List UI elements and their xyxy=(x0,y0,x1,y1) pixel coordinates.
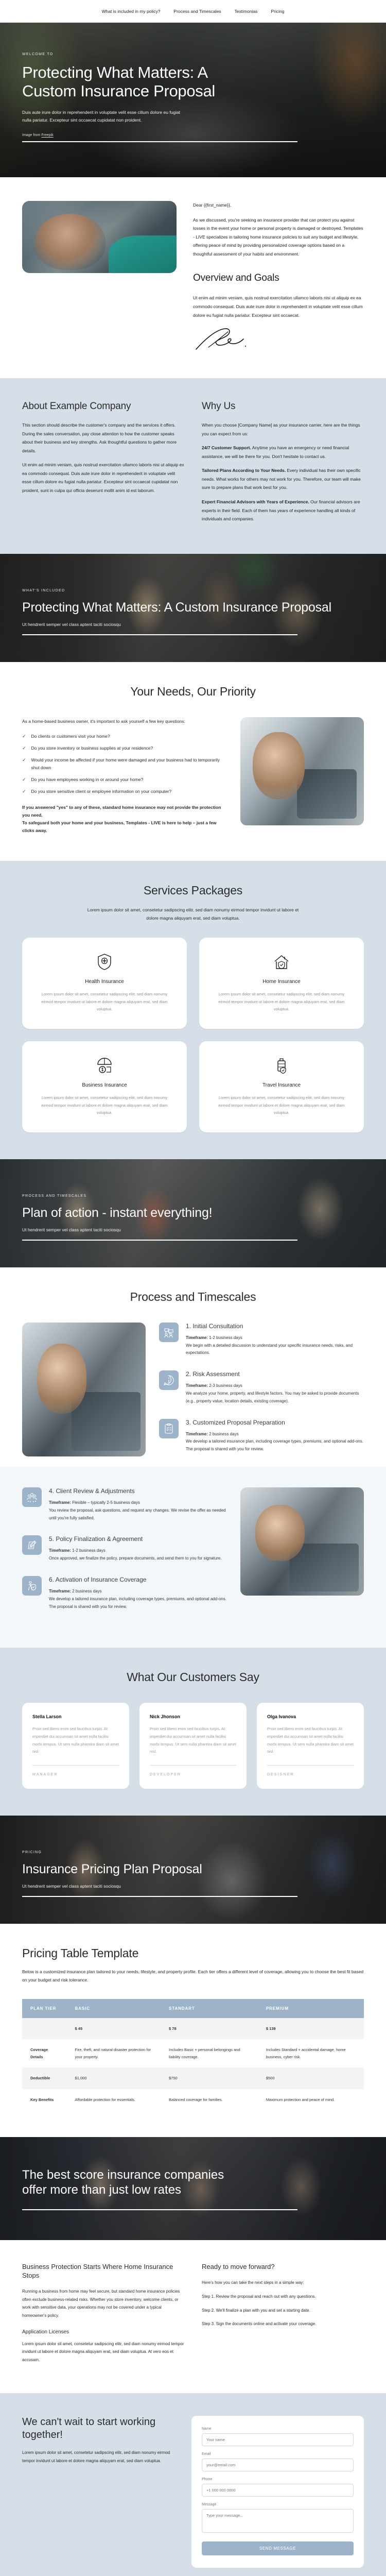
advisor-photo xyxy=(22,201,177,273)
email-input[interactable] xyxy=(202,2459,354,2471)
process-banner-title: Plan of action - instant everything! xyxy=(22,1205,364,1221)
contact-lead: Lorem ipsum dolor sit amet, consetetur s… xyxy=(22,2449,174,2465)
about-why-section: About Example Company This section shoul… xyxy=(0,378,386,554)
chat-people-icon xyxy=(159,1323,179,1342)
process-title: Process and Timescales xyxy=(0,1290,386,1304)
timeframe-label: Timeframe: xyxy=(49,1548,71,1553)
col-standard: STANDART xyxy=(161,1999,258,2018)
needs-bold-1: If you answered "yes" to any of these, s… xyxy=(22,804,225,820)
overview-title: Overview and Goals xyxy=(193,268,364,287)
proposal-page: What is included in my policy? Process a… xyxy=(0,0,386,2576)
table-row: Key Benefits Affordable protection for e… xyxy=(22,2089,364,2111)
included-title: Protecting What Matters: A Custom Insura… xyxy=(22,600,364,615)
table-row: Deductible $1,000 $750 $500 xyxy=(22,2067,364,2089)
field-email: Email xyxy=(202,2452,354,2471)
hero-section: WELCOME TO Protecting What Matters: A Cu… xyxy=(0,23,386,177)
list-item: ✓Do clients or customers visit your home… xyxy=(22,733,225,740)
price-standard: $ 78 xyxy=(161,2018,258,2040)
pricing-eyebrow: PRICING xyxy=(22,1851,364,1854)
included-banner: WHAT'S INCLUDED Protecting What Matters:… xyxy=(0,554,386,662)
service-body-travel: Lorem ipsum dolor sit amet, consetetur s… xyxy=(213,1094,350,1117)
process-step-6-timeframe: 2 business days xyxy=(71,1589,102,1594)
timeframe-label: Timeframe: xyxy=(186,1335,208,1340)
process-step-5-title: 5. Policy Finalization & Agreement xyxy=(49,1535,222,1543)
needs-question-5: Do you store sensitive client or employe… xyxy=(31,788,172,795)
hero-subtitle: Duis aute irure dolor in reprehenderit i… xyxy=(22,109,182,124)
check-icon: ✓ xyxy=(22,776,26,784)
coverage-standard: Includes Basic + personal belongings and… xyxy=(161,2039,258,2067)
needs-bold-2: To safeguard both your home and your bus… xyxy=(22,819,225,835)
letter-greeting: Dear {{first_name}}, xyxy=(193,201,364,210)
pricing-lead: Below is a customized insurance plan tai… xyxy=(22,1968,364,1985)
testimonial-quote-1: Proin sed libero enim sed faucibus turpi… xyxy=(32,1725,119,1756)
process-step-2-title: 2. Risk Assessment xyxy=(186,1370,364,1378)
process-photo-right xyxy=(240,1487,364,1596)
col-premium: PREMIUM xyxy=(258,1999,364,2018)
service-card-health[interactable]: Health Insurance Lorem ipsum dolor sit a… xyxy=(22,938,187,1029)
process-step-2: 2. Risk Assessment Timeframe: 2-3 busine… xyxy=(159,1370,364,1405)
business-ready-section: Business Protection Starts Where Home In… xyxy=(0,2240,386,2393)
luggage-shield-icon xyxy=(213,1055,350,1076)
nav-item-pricing[interactable]: Pricing xyxy=(271,9,284,14)
label-email: Email xyxy=(202,2452,354,2456)
ready-title: Ready to move forward? xyxy=(202,2263,364,2272)
why-title: Why Us xyxy=(202,401,364,412)
letter-section: Dear {{first_name}}, As we discussed, yo… xyxy=(0,177,386,378)
col-basic: BASIC xyxy=(67,1999,161,2018)
phone-input[interactable] xyxy=(202,2484,354,2497)
top-navbar: What is included in my policy? Process a… xyxy=(0,0,386,23)
services-lead: Lorem ipsum dolor sit amet, consetetur s… xyxy=(85,906,301,922)
process-step-5: 5. Policy Finalization & Agreement Timef… xyxy=(22,1535,227,1563)
pricing-section: Pricing Table Template Below is a custom… xyxy=(0,1924,386,2138)
pricing-banner-title: Insurance Pricing Plan Proposal xyxy=(22,1861,364,1877)
table-row: Coverage Details Fire, theft, and natura… xyxy=(22,2039,364,2067)
needs-question-list: ✓Do clients or customers visit your home… xyxy=(22,733,225,795)
ready-step-2: Step 2. We'll finalize a plan with you a… xyxy=(202,2307,364,2315)
divider xyxy=(32,1765,119,1766)
coverage-premium: Includes Standard + accidental damage, h… xyxy=(258,2039,364,2067)
why-item-2-bold: Tailored Plans According to Your Needs. xyxy=(202,468,286,473)
process-step-4-title: 4. Client Review & Adjustments xyxy=(49,1487,227,1495)
timeframe-label: Timeframe: xyxy=(186,1383,208,1388)
row-label-price xyxy=(22,2018,67,2040)
needs-section: Your Needs, Our Priority As a home-based… xyxy=(0,662,386,861)
service-title-travel: Travel Insurance xyxy=(213,1082,350,1088)
field-phone: Phone xyxy=(202,2478,354,2497)
business-column: Business Protection Starts Where Home In… xyxy=(22,2263,184,2369)
check-icon: ✓ xyxy=(22,733,26,740)
nav-item-testimonials[interactable]: Testimonias xyxy=(235,9,258,14)
comparison-banner: The best score insurance companies offer… xyxy=(0,2137,386,2240)
table-row: $ 45 $ 78 $ 139 xyxy=(22,2018,364,2040)
services-title: Services Packages xyxy=(22,884,364,897)
list-item: ✓Would your income be affected if your h… xyxy=(22,756,225,772)
process-photo-left xyxy=(22,1323,146,1456)
signed-document-icon xyxy=(22,1535,42,1555)
needs-question-2: Do you store inventory or business suppl… xyxy=(31,744,153,752)
timeframe-label: Timeframe: xyxy=(49,1589,71,1594)
service-card-travel[interactable]: Travel Insurance Lorem ipsum dolor sit a… xyxy=(199,1041,364,1132)
benefits-premium: Maximum protection and peace of mind. xyxy=(258,2089,364,2111)
process-step-1-title: 1. Initial Consultation xyxy=(186,1323,364,1330)
image-credit-link[interactable]: Freepik xyxy=(41,133,53,137)
list-item: ✓Do you store inventory or business supp… xyxy=(22,744,225,752)
image-credit: Image from Freepik xyxy=(22,133,364,137)
row-label-benefits: Key Benefits xyxy=(22,2089,67,2111)
testimonials-title: What Our Customers Say xyxy=(22,1670,364,1684)
contact-form: Name Email Phone Message SEND MESSAGE xyxy=(191,2416,364,2568)
comparison-title: The best score insurance companies offer… xyxy=(22,2168,238,2198)
business-paragraph: Running a business from home may feel se… xyxy=(22,2287,184,2319)
service-body-health: Lorem ipsum dolor sit amet, consetetur s… xyxy=(36,991,173,1013)
about-title: About Example Company xyxy=(22,401,184,412)
price-premium: $ 139 xyxy=(258,2018,364,2040)
contact-section: We can't wait to start working together!… xyxy=(0,2393,386,2576)
included-subtitle: Ut hendrerit semper vel class aptent tac… xyxy=(22,622,364,627)
why-item-2: Tailored Plans According to Your Needs. … xyxy=(202,466,364,492)
about-column: About Example Company This section shoul… xyxy=(22,401,184,529)
row-label-coverage: Coverage Details xyxy=(22,2039,67,2067)
divider xyxy=(267,1765,354,1766)
process-step-3-title: 3. Customized Proposal Preparation xyxy=(186,1419,364,1426)
process-step-3-timeframe: 2 business days xyxy=(208,1432,239,1436)
letter-paragraph: As we discussed, you're seeking an insur… xyxy=(193,216,364,259)
process-step-6-title: 6. Activation of Insurance Coverage xyxy=(49,1576,227,1583)
service-title-home: Home Insurance xyxy=(213,979,350,985)
message-input[interactable] xyxy=(202,2509,354,2533)
why-item-3-bold: Expert Financial Advisors with Years of … xyxy=(202,499,309,504)
service-card-business[interactable]: Business Insurance Lorem ipsum dolor sit… xyxy=(22,1041,187,1132)
hero-eyebrow: WELCOME TO xyxy=(22,53,364,56)
needs-question-4: Do you have employees working in or arou… xyxy=(31,776,144,784)
testimonial-card: Stella Larson Proin sed libero enim sed … xyxy=(22,1703,129,1789)
check-icon: ✓ xyxy=(22,756,26,772)
field-name: Name xyxy=(202,2427,354,2446)
process-step-3-text: We develop a tailored insurance plan, in… xyxy=(186,1439,363,1451)
process-steps-group-a: 1. Initial Consultation Timeframe: 1-2 b… xyxy=(159,1323,364,1467)
service-card-home[interactable]: Home Insurance Lorem ipsum dolor sit ame… xyxy=(199,938,364,1029)
process-step-4-text: You review the proposal, ask questions, … xyxy=(49,1508,226,1520)
services-grid: Health Insurance Lorem ipsum dolor sit a… xyxy=(22,938,364,1132)
application-licenses-title: Application Licenses xyxy=(22,2329,184,2335)
pricing-table-title: Pricing Table Template xyxy=(22,1946,364,1960)
testimonial-name-2: Nick Jhonson xyxy=(150,1714,236,1719)
pricing-banner: PRICING Insurance Pricing Plan Proposal … xyxy=(0,1816,386,1924)
contact-title: We can't wait to start working together! xyxy=(22,2416,174,2442)
label-phone: Phone xyxy=(202,2478,354,2481)
process-step-4: 4. Client Review & Adjustments Timeframe… xyxy=(22,1487,227,1522)
check-icon: ✓ xyxy=(22,788,26,795)
label-name: Name xyxy=(202,2427,354,2431)
why-item-3: Expert Financial Advisors with Years of … xyxy=(202,498,364,523)
about-paragraph-1: This section should describe the custome… xyxy=(22,421,184,455)
process-step-2-text: We analyze your home, property, and life… xyxy=(186,1391,359,1403)
business-title: Business Protection Starts Where Home In… xyxy=(22,2263,184,2280)
services-section: Services Packages Lorem ipsum dolor sit … xyxy=(0,861,386,1159)
why-item-1: 24/7 Customer Support. Anytime you have … xyxy=(202,444,364,461)
testimonial-card: Olga Ivanova Proin sed libero enim sed f… xyxy=(257,1703,364,1789)
needs-photo xyxy=(240,717,364,825)
service-body-home: Lorem ipsum dolor sit amet, consetetur s… xyxy=(213,991,350,1013)
house-shield-icon xyxy=(213,951,350,973)
deductible-premium: $500 xyxy=(258,2067,364,2089)
info-bubble-icon xyxy=(159,1370,179,1390)
included-divider xyxy=(22,634,297,635)
process-step-1-timeframe: 1-2 business days xyxy=(208,1335,242,1340)
benefits-standard: Balanced coverage for families. xyxy=(161,2089,258,2111)
overview-text: Ut enim ad minim veniam, quis nostrud ex… xyxy=(193,294,364,319)
nav-item-policy[interactable]: What is included in my policy? xyxy=(102,9,161,14)
testimonial-role-3: DESIGNER xyxy=(267,1773,354,1776)
service-title-business: Business Insurance xyxy=(36,1082,173,1088)
why-item-1-bold: 24/7 Customer Support. xyxy=(202,445,251,450)
service-body-business: Lorem ipsum dolor sit amet, consetetur s… xyxy=(36,1094,173,1117)
image-credit-prefix: Image from xyxy=(22,133,41,137)
process-section-a: Process and Timescales 1. Initial Consul… xyxy=(0,1267,386,1467)
divider xyxy=(150,1765,236,1766)
testimonial-role-1: MANAGER xyxy=(32,1773,119,1776)
needs-question-1: Do clients or customers visit your home? xyxy=(31,733,110,740)
hero-divider xyxy=(22,141,297,142)
included-eyebrow: WHAT'S INCLUDED xyxy=(22,589,364,592)
process-steps-group-b: 4. Client Review & Adjustments Timeframe… xyxy=(22,1487,227,1624)
process-step-2-timeframe: 2-3 business days xyxy=(208,1383,242,1388)
testimonial-card: Nick Jhonson Proin sed libero enim sed f… xyxy=(139,1703,247,1789)
comparison-divider xyxy=(22,2209,297,2210)
check-icon: ✓ xyxy=(22,744,26,752)
col-plan-tier: PLAN TIER xyxy=(22,1999,67,2018)
why-column: Why Us When you choose [Company Name] as… xyxy=(202,401,364,529)
price-basic: $ 45 xyxy=(67,2018,161,2040)
application-licenses-text: Lorem ipsum dolor sit amet, consetetur s… xyxy=(22,2340,184,2364)
process-step-1-text: We begin with a detailed discussion to u… xyxy=(186,1343,353,1355)
about-paragraph-2: Ut enim ad minim veniam, quis nostrud ex… xyxy=(22,461,184,495)
testimonial-role-2: DEVELOPER xyxy=(150,1773,236,1776)
label-message: Message xyxy=(202,2503,354,2506)
process-step-5-timeframe: 1-2 business days xyxy=(71,1548,106,1553)
timeframe-label: Timeframe: xyxy=(49,1500,71,1505)
testimonial-quote-3: Proin sed libero enim sed faucibus turpi… xyxy=(267,1725,354,1756)
needs-intro: As a home-based business owner, it's imp… xyxy=(22,717,225,726)
testimonial-name-1: Stella Larson xyxy=(32,1714,119,1719)
ready-column: Ready to move forward? Here's how you ca… xyxy=(202,2263,364,2369)
testimonial-name-3: Olga Ivanova xyxy=(267,1714,354,1719)
process-section-b: 4. Client Review & Adjustments Timeframe… xyxy=(0,1467,386,1648)
person-shield-icon xyxy=(22,1576,42,1596)
process-step-4-timeframe: Flexible – typically 2-5 business days xyxy=(71,1500,140,1505)
shield-medical-icon xyxy=(36,951,173,973)
ready-intro: Here's how you can take the next steps i… xyxy=(202,2279,364,2287)
process-step-1: 1. Initial Consultation Timeframe: 1-2 b… xyxy=(159,1323,364,1357)
pricing-banner-subtitle: Ut hendrerit semper vel class aptent tac… xyxy=(22,1884,364,1889)
testimonials-section: What Our Customers Say Stella Larson Pro… xyxy=(0,1648,386,1816)
process-banner-subtitle: Ut hendrerit semper vel class aptent tac… xyxy=(22,1227,364,1232)
list-item: ✓Do you store sensitive client or employ… xyxy=(22,788,225,795)
group-people-icon xyxy=(22,1487,42,1507)
clipboard-check-icon xyxy=(159,1419,179,1438)
process-eyebrow: PROCESS AND TIMESCALES xyxy=(22,1194,364,1198)
process-step-6: 6. Activation of Insurance Coverage Time… xyxy=(22,1576,227,1611)
ready-step-1: Step 1. Review the proposal and reach ou… xyxy=(202,2293,364,2301)
pricing-banner-divider xyxy=(22,1896,297,1897)
process-banner-divider xyxy=(22,1240,297,1241)
send-message-button[interactable]: SEND MESSAGE xyxy=(202,2541,354,2555)
process-banner: PROCESS AND TIMESCALES Plan of action - … xyxy=(0,1159,386,1267)
why-intro: When you choose [Company Name] as your i… xyxy=(202,421,364,438)
coverage-basic: Fire, theft, and natural disaster protec… xyxy=(67,2039,161,2067)
row-label-deductible: Deductible xyxy=(22,2067,67,2089)
timeframe-label: Timeframe: xyxy=(186,1432,208,1436)
process-step-3: 3. Customized Proposal Preparation Timef… xyxy=(159,1419,364,1453)
deductible-standard: $750 xyxy=(161,2067,258,2089)
name-input[interactable] xyxy=(202,2433,354,2446)
process-step-5-text: Once approved, we finalize the policy, p… xyxy=(49,1556,222,1561)
nav-item-process[interactable]: Process and Timescales xyxy=(173,9,221,14)
umbrella-money-icon xyxy=(36,1055,173,1076)
pricing-table: PLAN TIER BASIC STANDART PREMIUM $ 45 $ … xyxy=(22,1999,364,2111)
field-message: Message xyxy=(202,2503,354,2535)
deductible-basic: $1,000 xyxy=(67,2067,161,2089)
testimonial-quote-2: Proin sed libero enim sed faucibus turpi… xyxy=(150,1725,236,1756)
hero-title: Protecting What Matters: A Custom Insura… xyxy=(22,63,238,100)
needs-title: Your Needs, Our Priority xyxy=(22,685,364,699)
ready-step-3: Step 3. Sign the documents online and ac… xyxy=(202,2320,364,2328)
signature-icon xyxy=(193,327,255,351)
benefits-basic: Affordable protection for essentials. xyxy=(67,2089,161,2111)
needs-question-3: Would your income be affected if your ho… xyxy=(31,756,225,772)
service-title-health: Health Insurance xyxy=(36,979,173,985)
list-item: ✓Do you have employees working in or aro… xyxy=(22,776,225,784)
table-header-row: PLAN TIER BASIC STANDART PREMIUM xyxy=(22,1999,364,2018)
process-step-6-text: We develop a tailored insurance plan, in… xyxy=(49,1597,226,1609)
testimonials-grid: Stella Larson Proin sed libero enim sed … xyxy=(22,1703,364,1789)
